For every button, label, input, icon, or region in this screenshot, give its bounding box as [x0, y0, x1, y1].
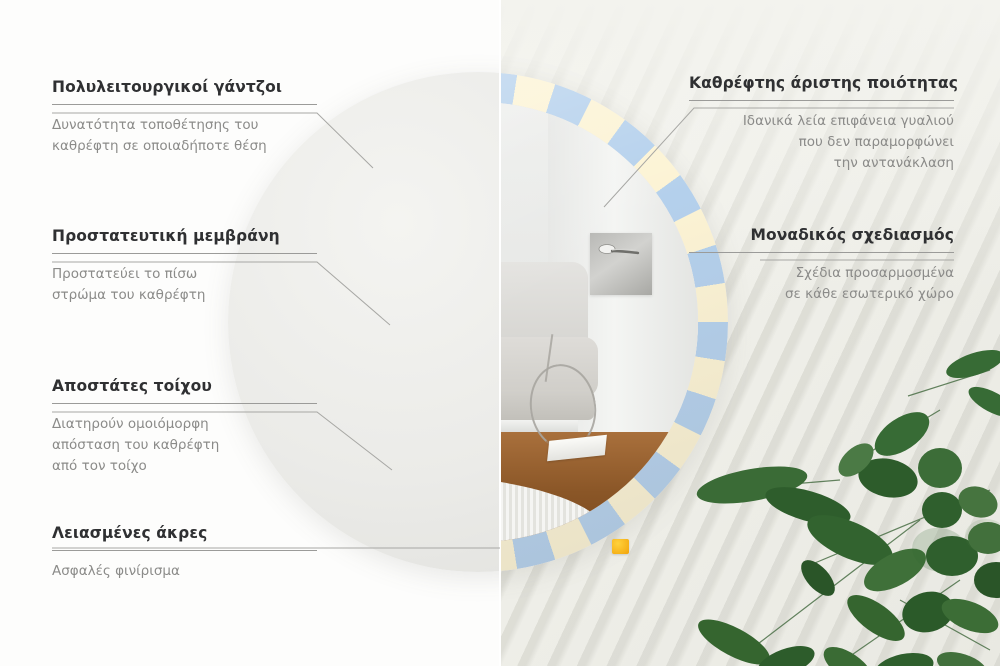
callout-wall-spacers-rule — [52, 403, 317, 404]
callout-smooth-edges-title: Λειασμένες άκρες — [52, 524, 317, 543]
callout-quality-mirror-desc: Ιδανικά λεία επιφάνεια γυαλιού που δεν π… — [689, 111, 954, 174]
eucalyptus-plant-decoration — [690, 350, 1000, 666]
callout-quality-mirror-rule — [689, 100, 954, 101]
callout-wall-spacers-desc: Διατηρούν ομοιόμορφη απόσταση του καθρέφ… — [52, 414, 317, 477]
callout-hooks-title: Πολυλειτουργικοί γάντζοι — [52, 78, 317, 97]
callout-wall-spacers: Αποστάτες τοίχου Διατηρούν ομοιόμορφη απ… — [52, 377, 317, 477]
hook-icon — [598, 243, 642, 259]
callout-membrane-title: Προστατευτική μεμβράνη — [52, 227, 317, 246]
callout-smooth-edges: Λειασμένες άκρες Ασφαλές φινίρισμα — [52, 524, 317, 582]
callout-unique-design-rule — [689, 252, 954, 253]
callout-membrane: Προστατευτική μεμβράνη Προστατεύει το πί… — [52, 227, 317, 306]
callout-smooth-edges-rule — [52, 550, 317, 551]
callout-quality-mirror-title: Καθρέφτης άριστης ποιότητας — [689, 74, 954, 93]
callout-hooks-rule — [52, 104, 317, 105]
panel-divider — [499, 0, 501, 666]
callout-hooks-desc: Δυνατότητα τοποθέτησης του καθρέφτη σε ο… — [52, 115, 317, 157]
callout-unique-design-title: Μοναδικός σχεδιασμός — [689, 226, 954, 245]
callout-hooks: Πολυλειτουργικοί γάντζοι Δυνατότητα τοπο… — [52, 78, 317, 157]
product-feature-diagram: Πολυλειτουργικοί γάντζοι Δυνατότητα τοπο… — [0, 0, 1000, 666]
callout-quality-mirror: Καθρέφτης άριστης ποιότητας Ιδανικά λεία… — [689, 74, 954, 174]
wall-spacer — [612, 539, 629, 554]
hanging-hook-plate — [590, 233, 652, 295]
callout-membrane-rule — [52, 253, 317, 254]
callout-wall-spacers-title: Αποστάτες τοίχου — [52, 377, 317, 396]
callout-unique-design-desc: Σχέδια προσαρμοσμένα σε κάθε εσωτερικό χ… — [689, 263, 954, 305]
callout-membrane-desc: Προστατεύει το πίσω στρώμα του καθρέφτη — [52, 264, 317, 306]
callout-unique-design: Μοναδικός σχεδιασμός Σχέδια προσαρμοσμέν… — [689, 226, 954, 305]
callout-smooth-edges-desc: Ασφαλές φινίρισμα — [52, 561, 317, 582]
